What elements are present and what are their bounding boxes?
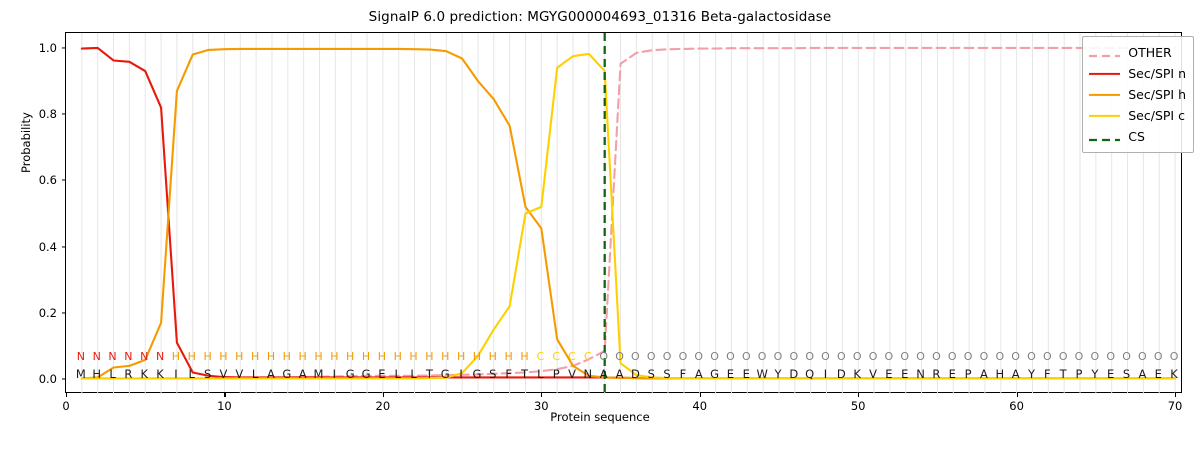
region-label: O xyxy=(694,349,703,365)
region-label: H xyxy=(267,349,275,365)
amino-acid-letter: T xyxy=(521,365,528,383)
amino-acid-letter: A xyxy=(980,365,988,383)
region-label: H xyxy=(235,349,243,365)
amino-acid-letter: A xyxy=(1012,365,1020,383)
y-tick-label: 0.6 xyxy=(39,173,57,187)
legend-line-icon xyxy=(1089,114,1120,116)
amino-acid-letter: L xyxy=(109,365,115,383)
amino-acid-letter: V xyxy=(568,365,576,383)
amino-acid-letter: S xyxy=(648,365,655,383)
region-label: O xyxy=(964,349,973,365)
amino-acid-letter: K xyxy=(140,365,148,383)
amino-acid-letter: L xyxy=(410,365,416,383)
y-tick-label: 0.8 xyxy=(39,107,57,121)
region-label: H xyxy=(330,349,338,365)
amino-acid-letter: E xyxy=(885,365,892,383)
region-label: O xyxy=(631,349,640,365)
y-axis-label: Probability xyxy=(19,112,33,173)
region-label: H xyxy=(425,349,433,365)
y-tick-mark xyxy=(62,47,67,48)
x-tick-mark xyxy=(541,392,542,397)
x-tick-mark xyxy=(224,392,225,397)
amino-acid-letter: I xyxy=(459,365,462,383)
amino-acid-letter: G xyxy=(710,365,719,383)
amino-acid-letter: G xyxy=(346,365,355,383)
series-line-other xyxy=(82,48,1175,379)
data-layer xyxy=(66,33,1181,392)
amino-acid-letter: H xyxy=(92,365,101,383)
y-tick-mark xyxy=(62,180,67,181)
legend-item: Sec/SPI n xyxy=(1089,63,1186,84)
region-label: O xyxy=(900,349,909,365)
amino-acid-letter: K xyxy=(853,365,861,383)
amino-acid-letter: E xyxy=(727,365,734,383)
region-label: O xyxy=(948,349,957,365)
series-line-sec-spi-h xyxy=(82,49,1175,379)
signalp-prediction-figure: SignalP 6.0 prediction: MGYG000004693_01… xyxy=(0,0,1200,450)
amino-acid-letter: S xyxy=(663,365,670,383)
amino-acid-letter: F xyxy=(680,365,687,383)
region-label: O xyxy=(1091,349,1100,365)
legend-label: Sec/SPI h xyxy=(1128,87,1186,102)
region-label: H xyxy=(299,349,307,365)
amino-acid-letter: N xyxy=(584,365,593,383)
region-label: O xyxy=(742,349,751,365)
amino-acid-letter: L xyxy=(189,365,195,383)
amino-acid-letter: D xyxy=(837,365,846,383)
amino-acid-letter: E xyxy=(901,365,908,383)
amino-acid-letter: Y xyxy=(774,365,781,383)
region-label: N xyxy=(140,349,148,365)
region-label: H xyxy=(362,349,370,365)
region-label: C xyxy=(584,349,592,365)
region-label: H xyxy=(504,349,512,365)
region-label: H xyxy=(219,349,227,365)
region-label: O xyxy=(932,349,941,365)
amino-acid-letter: Q xyxy=(805,365,814,383)
region-label: O xyxy=(774,349,783,365)
region-label: O xyxy=(837,349,846,365)
legend-line-icon xyxy=(1089,72,1120,74)
amino-acid-letter: E xyxy=(378,365,385,383)
region-label: O xyxy=(710,349,719,365)
amino-acid-letter: N xyxy=(916,365,925,383)
region-label: H xyxy=(520,349,528,365)
amino-acid-letter: I xyxy=(333,365,336,383)
amino-acid-letter: P xyxy=(553,365,560,383)
series-line-sec-spi-n xyxy=(82,48,1175,379)
region-label: O xyxy=(663,349,672,365)
amino-acid-letter: V xyxy=(220,365,228,383)
legend-label: Sec/SPI n xyxy=(1128,66,1186,81)
legend-item: Sec/SPI h xyxy=(1089,84,1186,105)
region-label: C xyxy=(568,349,576,365)
amino-acid-letter: A xyxy=(695,365,703,383)
region-label: H xyxy=(188,349,196,365)
region-label: N xyxy=(93,349,101,365)
amino-acid-letter: L xyxy=(252,365,258,383)
legend-item: OTHER xyxy=(1089,42,1186,63)
legend-swatch xyxy=(1089,89,1120,101)
region-label: H xyxy=(172,349,180,365)
amino-acid-sequence-row: MHLRKKILSVVLAGAMIGGELLTGIGSFTLPVNAADSSFA… xyxy=(65,365,1182,383)
amino-acid-letter: I xyxy=(174,365,177,383)
y-tick-label: 0.0 xyxy=(39,372,57,386)
region-label: O xyxy=(995,349,1004,365)
region-label: O xyxy=(805,349,814,365)
region-label: O xyxy=(1154,349,1163,365)
x-axis-label: Protein sequence xyxy=(0,410,1200,424)
x-tick-mark xyxy=(858,392,859,397)
amino-acid-letter: F xyxy=(505,365,512,383)
amino-acid-letter: E xyxy=(743,365,750,383)
amino-acid-letter: A xyxy=(299,365,307,383)
legend-label: OTHER xyxy=(1128,45,1171,60)
legend-item: Sec/SPI c xyxy=(1089,105,1186,126)
region-label: H xyxy=(457,349,465,365)
amino-acid-letter: M xyxy=(76,365,86,383)
region-label: O xyxy=(821,349,830,365)
legend-label: Sec/SPI c xyxy=(1128,108,1185,123)
amino-acid-letter: Y xyxy=(1028,365,1035,383)
amino-acid-letter: L xyxy=(537,365,543,383)
region-label: H xyxy=(489,349,497,365)
amino-acid-letter: T xyxy=(426,365,433,383)
legend-dash-icon xyxy=(1089,50,1120,62)
amino-acid-letter: A xyxy=(600,365,608,383)
amino-acid-letter: V xyxy=(869,365,877,383)
region-label: H xyxy=(473,349,481,365)
region-label: C xyxy=(536,349,544,365)
region-label: O xyxy=(1122,349,1131,365)
amino-acid-letter: E xyxy=(1107,365,1114,383)
amino-acid-letter: A xyxy=(616,365,624,383)
region-label: O xyxy=(885,349,894,365)
region-label: H xyxy=(394,349,402,365)
amino-acid-letter: A xyxy=(1138,365,1146,383)
amino-acid-letter: R xyxy=(124,365,132,383)
amino-acid-letter: D xyxy=(789,365,798,383)
amino-acid-letter: P xyxy=(965,365,972,383)
amino-acid-letter: M xyxy=(314,365,324,383)
region-label: N xyxy=(108,349,116,365)
amino-acid-letter: A xyxy=(267,365,275,383)
region-label: H xyxy=(314,349,322,365)
region-label: O xyxy=(980,349,989,365)
amino-acid-letter: K xyxy=(1170,365,1178,383)
series-svg xyxy=(66,33,1183,394)
y-tick-label: 1.0 xyxy=(39,41,57,55)
y-tick-mark xyxy=(62,312,67,313)
region-label: C xyxy=(552,349,560,365)
region-label: O xyxy=(1011,349,1020,365)
region-label: H xyxy=(346,349,354,365)
x-tick-mark xyxy=(700,392,701,397)
region-label: O xyxy=(726,349,735,365)
region-label-row: NNNNNNHHHHHHHHHHHHHHHHHHHHHHHCCCCOOOOOOO… xyxy=(65,349,1182,365)
region-label: O xyxy=(1106,349,1115,365)
amino-acid-letter: G xyxy=(282,365,291,383)
legend-label: CS xyxy=(1128,129,1145,144)
region-label: O xyxy=(853,349,862,365)
y-tick-mark xyxy=(62,246,67,247)
amino-acid-letter: L xyxy=(395,365,401,383)
amino-acid-letter: E xyxy=(949,365,956,383)
region-label: O xyxy=(1059,349,1068,365)
region-label: N xyxy=(77,349,85,365)
amino-acid-letter: S xyxy=(489,365,496,383)
region-label: O xyxy=(1170,349,1179,365)
legend-swatch xyxy=(1089,131,1120,143)
region-label: O xyxy=(789,349,798,365)
amino-acid-letter: S xyxy=(204,365,211,383)
x-tick-mark xyxy=(1175,392,1176,397)
amino-acid-letter: E xyxy=(1155,365,1162,383)
amino-acid-letter: T xyxy=(1060,365,1067,383)
region-label: O xyxy=(869,349,878,365)
y-tick-label: 0.4 xyxy=(39,240,57,254)
region-label: N xyxy=(124,349,132,365)
x-tick-mark xyxy=(1017,392,1018,397)
region-label: O xyxy=(1027,349,1036,365)
x-tick-mark xyxy=(66,392,67,397)
region-label: O xyxy=(1043,349,1052,365)
amino-acid-letter: R xyxy=(932,365,940,383)
region-label: O xyxy=(916,349,925,365)
amino-acid-letter: G xyxy=(362,365,371,383)
region-label: N xyxy=(156,349,164,365)
region-label: H xyxy=(409,349,417,365)
region-label: H xyxy=(203,349,211,365)
amino-acid-letter: Y xyxy=(1091,365,1098,383)
amino-acid-letter: D xyxy=(631,365,640,383)
legend: OTHERSec/SPI nSec/SPI hSec/SPI cCS xyxy=(1082,36,1194,153)
amino-acid-letter: P xyxy=(1076,365,1083,383)
y-tick-label: 0.2 xyxy=(39,306,57,320)
amino-acid-letter: G xyxy=(472,365,481,383)
plot-area: Probability 0.00.20.40.60.81.0 010203040… xyxy=(65,32,1182,393)
legend-dash-icon xyxy=(1089,134,1120,146)
y-tick-mark xyxy=(62,114,67,115)
amino-acid-letter: F xyxy=(1044,365,1051,383)
x-tick-mark xyxy=(383,392,384,397)
legend-swatch xyxy=(1089,47,1120,59)
legend-swatch xyxy=(1089,68,1120,80)
region-label: O xyxy=(1075,349,1084,365)
region-label: O xyxy=(599,349,608,365)
region-label: O xyxy=(647,349,656,365)
region-label: H xyxy=(251,349,259,365)
legend-line-icon xyxy=(1089,93,1120,95)
amino-acid-letter: V xyxy=(235,365,243,383)
amino-acid-letter: G xyxy=(441,365,450,383)
legend-swatch xyxy=(1089,110,1120,122)
series-line-sec-spi-c xyxy=(82,54,1175,379)
amino-acid-letter: K xyxy=(156,365,164,383)
region-label: O xyxy=(679,349,688,365)
region-label: O xyxy=(1138,349,1147,365)
amino-acid-letter: S xyxy=(1123,365,1130,383)
region-label: H xyxy=(378,349,386,365)
amino-acid-letter: H xyxy=(995,365,1004,383)
chart-title: SignalP 6.0 prediction: MGYG000004693_01… xyxy=(0,9,1200,25)
region-label: O xyxy=(615,349,624,365)
legend-item: CS xyxy=(1089,126,1186,147)
amino-acid-letter: W xyxy=(756,365,767,383)
region-label: O xyxy=(758,349,767,365)
amino-acid-letter: I xyxy=(824,365,827,383)
region-label: H xyxy=(283,349,291,365)
region-label: H xyxy=(441,349,449,365)
